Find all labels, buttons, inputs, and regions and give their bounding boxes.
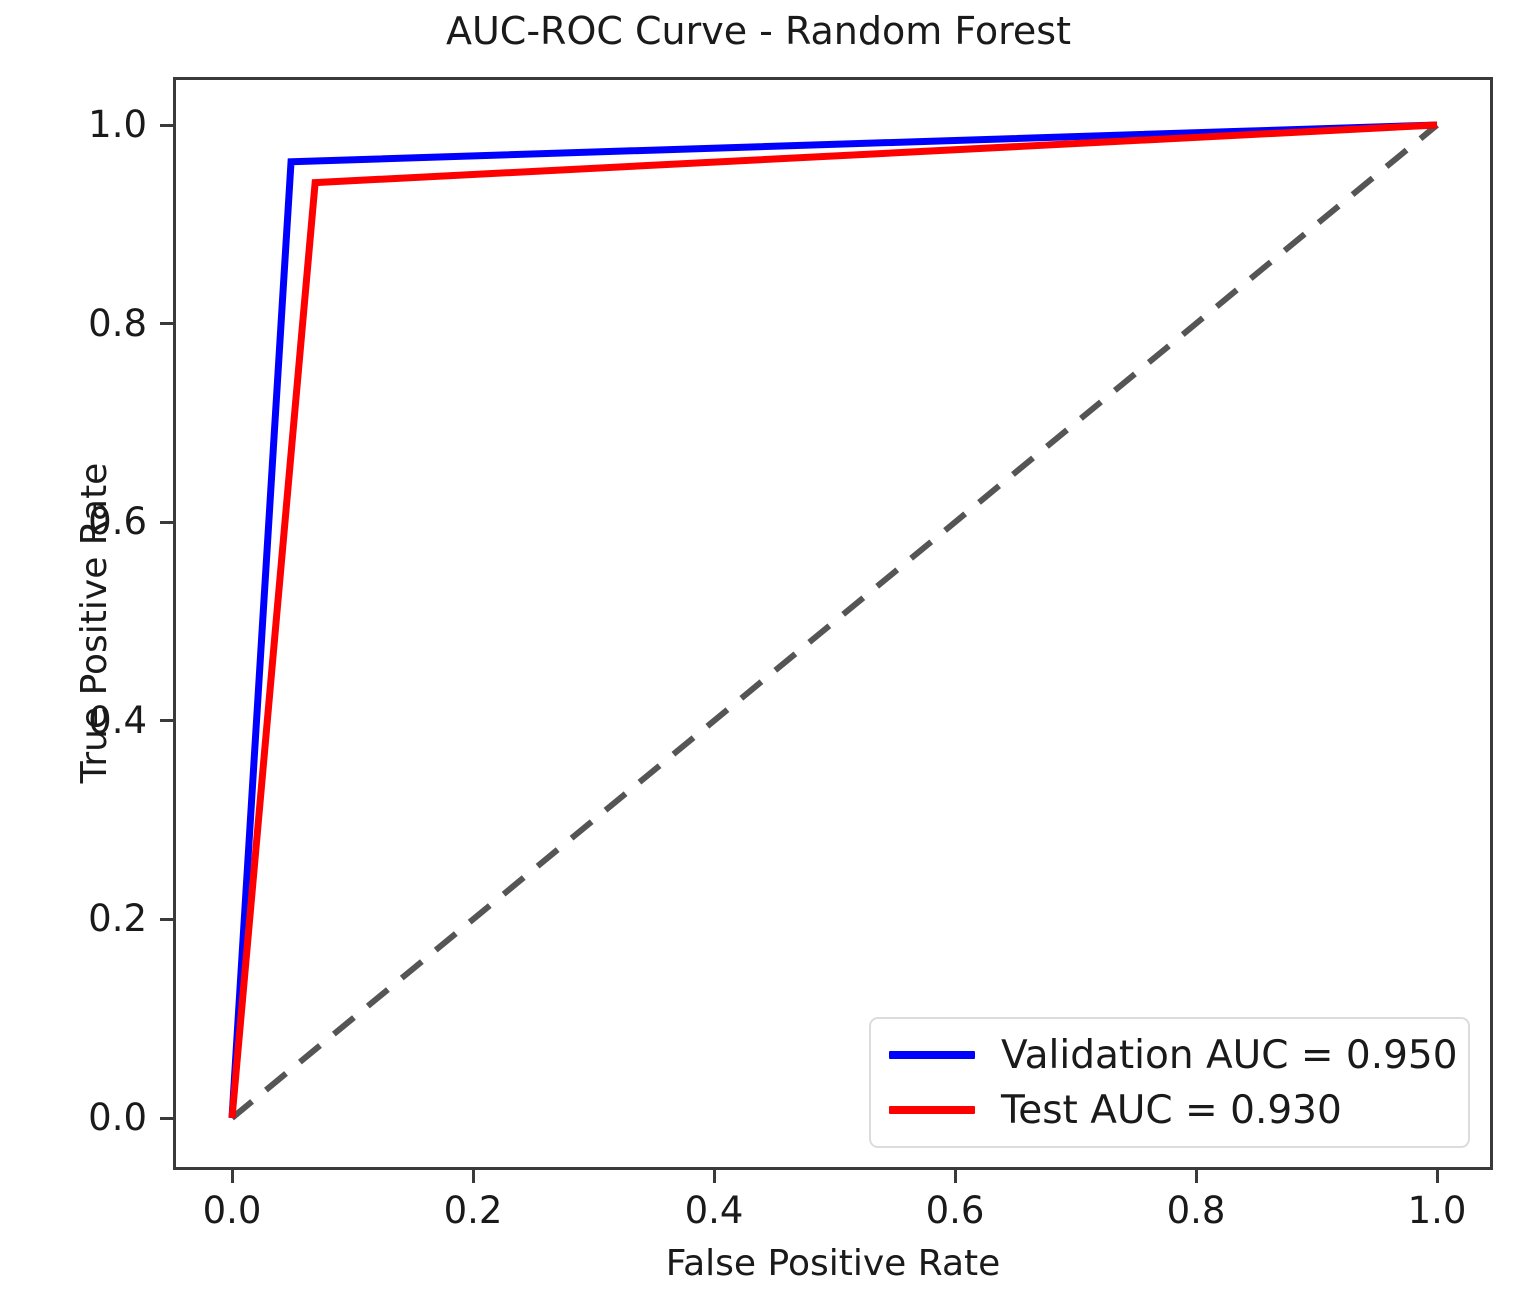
x-tick-mark [1195, 1170, 1198, 1183]
chart-title: AUC-ROC Curve - Random Forest [0, 8, 1517, 54]
x-tick-label: 0.8 [1116, 1192, 1276, 1229]
legend-item[interactable]: Test AUC = 0.930 [889, 1082, 1342, 1138]
roc-chart-figure: AUC-ROC Curve - Random Forest 0.00.20.40… [0, 0, 1517, 1302]
y-axis-label: True Positive Rate [75, 273, 115, 973]
legend-label: Validation AUC = 0.950 [1001, 1036, 1458, 1075]
plot-area [173, 77, 1493, 1170]
legend-color-swatch [889, 1106, 975, 1114]
y-tick-label: 0.8 [0, 305, 147, 342]
x-tick-label: 1.0 [1357, 1192, 1517, 1229]
legend-label: Test AUC = 0.930 [1001, 1091, 1342, 1130]
y-tick-mark [160, 719, 173, 722]
y-tick-mark [160, 521, 173, 524]
x-tick-label: 0.2 [393, 1192, 553, 1229]
x-tick-label: 0.6 [875, 1192, 1035, 1229]
x-tick-label: 0.4 [634, 1192, 794, 1229]
y-tick-mark [160, 918, 173, 921]
x-tick-mark [1436, 1170, 1439, 1183]
x-axis-label: False Positive Rate [173, 1244, 1493, 1284]
y-tick-label: 1.0 [0, 106, 147, 143]
legend-item[interactable]: Validation AUC = 0.950 [889, 1027, 1458, 1083]
x-tick-mark [472, 1170, 475, 1183]
legend-color-swatch [889, 1051, 975, 1059]
x-tick-label: 0.0 [152, 1192, 312, 1229]
chart-legend: Validation AUC = 0.950Test AUC = 0.930 [869, 1017, 1470, 1148]
x-tick-mark [231, 1170, 234, 1183]
y-tick-label: 0.0 [0, 1099, 147, 1136]
x-tick-mark [713, 1170, 716, 1183]
x-tick-mark [954, 1170, 957, 1183]
y-tick-mark [160, 322, 173, 325]
y-tick-mark [160, 1117, 173, 1120]
y-tick-label: 0.2 [0, 900, 147, 937]
y-tick-mark [160, 124, 173, 127]
series-line-diagonal [232, 125, 1437, 1118]
